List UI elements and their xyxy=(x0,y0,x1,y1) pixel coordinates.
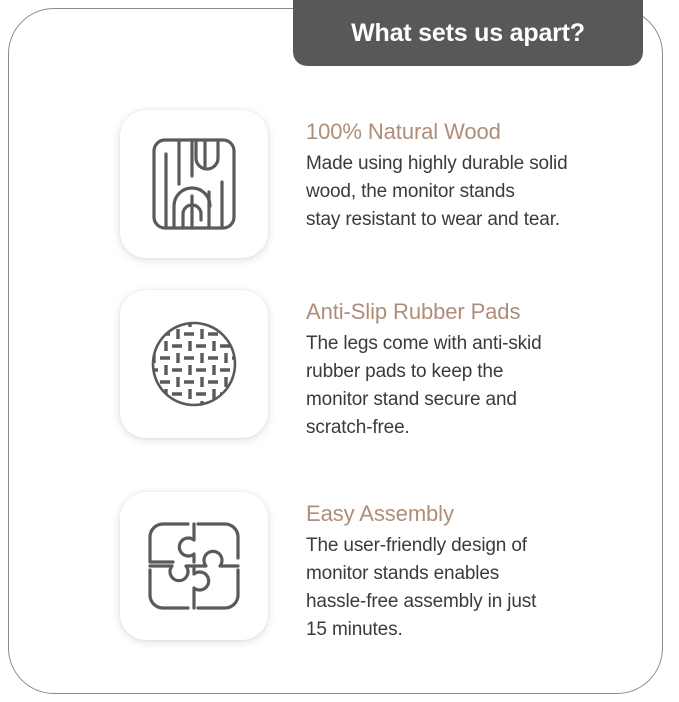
section-header-banner: What sets us apart? xyxy=(293,0,643,66)
feature-text-block: Easy Assembly The user-friendly design o… xyxy=(306,492,640,644)
feature-description-line: The legs come with anti-skid xyxy=(306,330,626,358)
feature-description-line: stay resistant to wear and tear. xyxy=(306,206,626,234)
feature-title: Anti-Slip Rubber Pads xyxy=(306,299,640,325)
feature-icon-tile xyxy=(120,290,268,438)
feature-description: The user-friendly design of monitor stan… xyxy=(306,532,626,644)
feature-highlights-panel: What sets us apart? xyxy=(0,0,679,702)
feature-description-line: monitor stand secure and xyxy=(306,386,626,414)
feature-description-line: monitor stands enables xyxy=(306,560,626,588)
feature-title: 100% Natural Wood xyxy=(306,119,640,145)
feature-item: 100% Natural Wood Made using highly dura… xyxy=(120,110,640,258)
feature-description: The legs come with anti-skid rubber pads… xyxy=(306,330,626,442)
feature-description-line: rubber pads to keep the xyxy=(306,358,626,386)
feature-icon-tile xyxy=(120,110,268,258)
wood-grain-icon xyxy=(148,136,240,232)
rubber-pad-weave-icon xyxy=(144,314,244,414)
feature-description-line: Made using highly durable solid xyxy=(306,150,626,178)
feature-description: Made using highly durable solid wood, th… xyxy=(306,150,626,234)
feature-title: Easy Assembly xyxy=(306,501,640,527)
feature-description-line: wood, the monitor stands xyxy=(306,178,626,206)
feature-description-line: 15 minutes. xyxy=(306,616,626,644)
feature-description-line: hassle-free assembly in just xyxy=(306,588,626,616)
feature-text-block: Anti-Slip Rubber Pads The legs come with… xyxy=(306,290,640,442)
page-title: What sets us apart? xyxy=(351,21,585,46)
feature-description-line: scratch-free. xyxy=(306,414,626,442)
feature-icon-tile xyxy=(120,492,268,640)
feature-description-line: The user-friendly design of xyxy=(306,532,626,560)
feature-text-block: 100% Natural Wood Made using highly dura… xyxy=(306,110,640,234)
feature-item: Anti-Slip Rubber Pads The legs come with… xyxy=(120,290,640,442)
puzzle-pieces-icon xyxy=(146,520,242,612)
feature-item: Easy Assembly The user-friendly design o… xyxy=(120,492,640,644)
feature-list: 100% Natural Wood Made using highly dura… xyxy=(0,0,679,702)
